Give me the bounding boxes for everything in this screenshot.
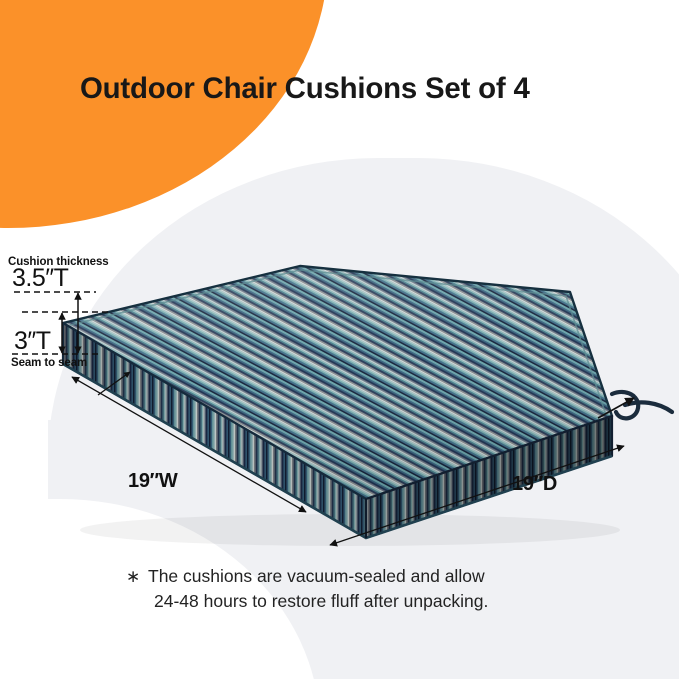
width-dimension-line: [72, 377, 306, 512]
label-depth-dimension: 19″D: [512, 473, 557, 496]
footnote-caption: ∗ The cushions are vacuum-sealed and all…: [126, 564, 596, 614]
label-thickness-value: 3.5″T: [12, 264, 68, 293]
label-seam-value: 3″T: [14, 327, 51, 356]
footnote-line-1: The cushions are vacuum-sealed and allow: [126, 564, 596, 589]
label-width-dimension: 19″W: [128, 470, 178, 493]
asterisk-icon: ∗: [126, 565, 140, 589]
tie-leader-line: [598, 398, 634, 418]
seam-leader-line: [98, 372, 130, 395]
label-seam-to-seam-caption: Seam to seam: [11, 357, 87, 369]
depth-dimension-line: [330, 446, 624, 545]
footnote-line-2: 24-48 hours to restore fluff after unpac…: [126, 589, 596, 614]
infographic-canvas: Outdoor Chair Cushions Set of 4: [0, 0, 679, 679]
